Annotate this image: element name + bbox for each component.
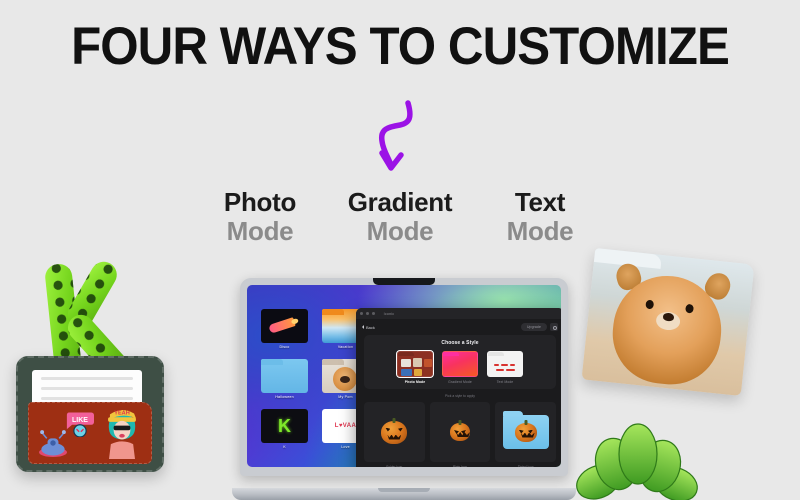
back-button[interactable]: Back [362,325,375,330]
desktop-icon-disco[interactable]: Disco [261,309,308,349]
laptop-mockup: Disco Vacation Halloween [232,278,576,500]
mode-label-photo: Photo Mode [190,188,330,246]
style-option-text[interactable]: Text Mode [487,351,523,384]
toolbar-right: Upgrade [521,323,558,331]
chevron-left-icon [362,325,364,329]
poster-stage: FOUR WAYS TO CUSTOMIZE Photo Mode Gradie… [0,0,800,500]
tinted-folder-icon [503,415,549,449]
desktop-icons: Disco Vacation Halloween [261,309,369,459]
desktop-icon-halloween[interactable]: Halloween [261,359,308,399]
result-card-tinted[interactable] [495,402,556,462]
laptop-screen: Disco Vacation Halloween [247,285,561,467]
like-sticker-icon: LIKE [65,409,95,437]
mode-gradient-line1: Gradient [330,188,470,217]
dog-nose [663,312,675,321]
curved-down-arrow-icon [360,95,440,175]
minimize-icon[interactable] [366,312,369,315]
mode-label-gradient: Gradient Mode [330,188,470,246]
disco-thumbnail [261,309,308,343]
girl-sticker-icon: YEAH [103,407,141,459]
style-option-label: Gradient Mode [442,380,478,384]
halloween-thumbnail [261,359,308,393]
dog-eye-left [645,300,654,310]
svg-text:YEAH: YEAH [114,410,129,416]
style-option-label: Photo Mode [397,380,433,384]
settings-button[interactable] [550,323,558,331]
result-card-plain[interactable] [430,402,491,462]
result-label: Plain Icon [430,465,491,467]
style-option-label: Text Mode [487,380,523,384]
app-window-title: Iconic [384,312,395,316]
k-thumbnail: K [261,409,308,443]
text-mode-thumbnail [487,351,523,377]
desktop-icon-k[interactable]: K K [261,409,308,449]
svg-text:LIKE: LIKE [72,417,88,424]
result-cards [356,402,561,462]
app-window: Iconic Back Upgrade Choose a Sty [356,308,561,467]
style-option-photo[interactable]: Photo Mode [397,351,433,384]
result-label: Tinted Icon [495,465,556,467]
style-options: Photo Mode Gradient Mode [368,351,552,384]
desktop-icon-label: K [261,445,308,449]
result-labels: Folder Icon Plain Icon Tinted Icon [356,462,561,467]
app-toolbar: Back Upgrade [356,319,561,335]
pumpkin-icon [450,423,470,441]
pumpkin-icon [381,421,407,444]
green-plant-icon [576,420,700,500]
chooser-hint: Pick a style to apply [356,394,561,398]
style-chooser-panel: Choose a Style [364,335,556,389]
upgrade-button[interactable]: Upgrade [521,323,547,331]
result-card-folder[interactable] [364,402,425,462]
style-option-gradient[interactable]: Gradient Mode [442,351,478,384]
mode-text-line1: Text [470,188,610,217]
pomeranian-photo-folder-icon [582,248,755,396]
result-label: Folder Icon [364,465,425,467]
mode-gradient-line2: Mode [330,217,470,246]
mode-label-text: Text Mode [470,188,610,246]
mode-photo-line1: Photo [190,188,330,217]
photo-mode-thumbnail [397,351,433,377]
mode-photo-line2: Mode [190,217,330,246]
folder-body: LIKE YEAH [28,402,152,464]
desktop-icon-label: Halloween [261,395,308,399]
chooser-title: Choose a Style [368,340,552,346]
dog-eye-right [685,304,694,314]
laptop-base [232,488,576,500]
laptop-notch [373,278,435,285]
back-button-label: Back [366,325,375,330]
app-titlebar: Iconic [356,308,561,319]
pumpkin-icon [515,423,537,442]
maximize-icon[interactable] [372,312,375,315]
page-title: FOUR WAYS TO CUSTOMIZE [28,16,772,77]
close-icon[interactable] [360,312,363,315]
sticker-folder-icon: LIKE YEAH [16,356,164,472]
mode-text-line2: Mode [470,217,610,246]
mode-labels: Photo Mode Gradient Mode Text Mode [190,188,610,246]
desktop-icon-label: Disco [261,345,308,349]
dog-face [639,297,698,337]
laptop-lid: Disco Vacation Halloween [240,278,568,476]
gradient-mode-thumbnail [442,351,478,377]
